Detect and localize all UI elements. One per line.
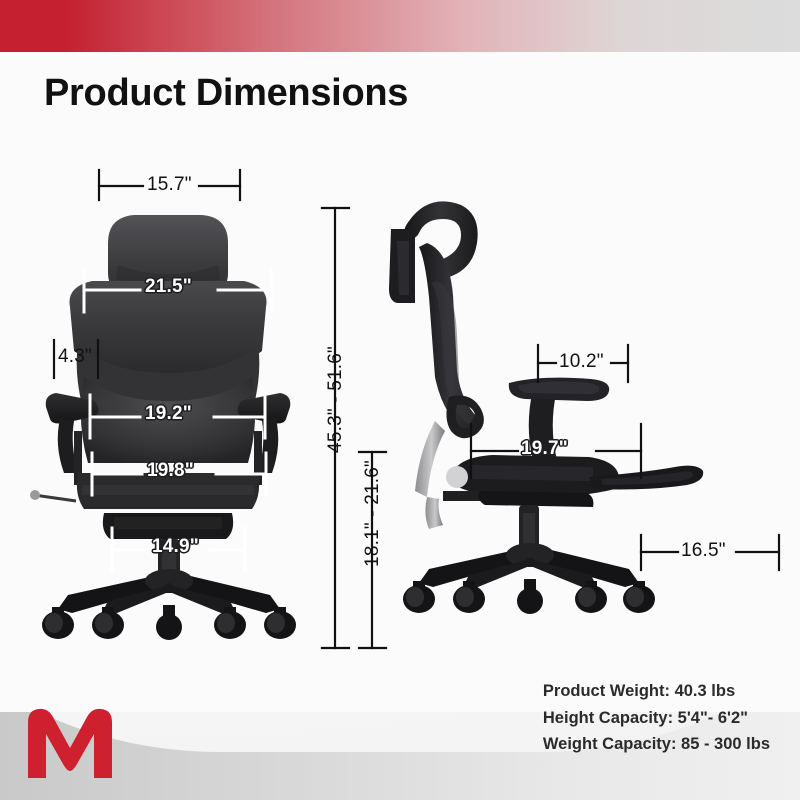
dimension-label-armrest-depth: 10.2" [559, 351, 604, 373]
dimension-label-seat-back-width: 19.2" [145, 403, 192, 425]
dimension-label-base-width: 14.9" [152, 536, 199, 558]
dimension-label-headrest-travel: 4.3" [58, 346, 92, 368]
page-title: Product Dimensions [44, 72, 408, 115]
letter-m-logo [22, 704, 118, 782]
dimension-label-seat-width: 19.8" [147, 460, 194, 482]
dimension-label-overall-height: 45.3" - 51.6" [325, 346, 347, 453]
spec-weight-capacity: Weight Capacity: 85 - 300 lbs [543, 731, 770, 758]
spec-height-capacity: Height Capacity: 5'4"- 6'2" [543, 705, 770, 732]
dimension-label-seat-depth: 19.7" [521, 438, 568, 460]
dimension-label-seat-height: 18.1" - 21.6" [362, 460, 384, 567]
dimension-label-footrest-extension: 16.5" [681, 540, 726, 562]
spec-product-weight: Product Weight: 40.3 lbs [543, 678, 770, 705]
dimension-label-backrest-width: 21.5" [145, 276, 192, 298]
side-view-chair [375, 185, 705, 655]
dimension-label-headrest-width: 15.7" [147, 174, 192, 196]
product-dimensions-infographic: Product Dimensions [0, 0, 800, 800]
front-view-chair [30, 195, 340, 655]
product-specs: Product Weight: 40.3 lbs Height Capacity… [543, 678, 770, 758]
